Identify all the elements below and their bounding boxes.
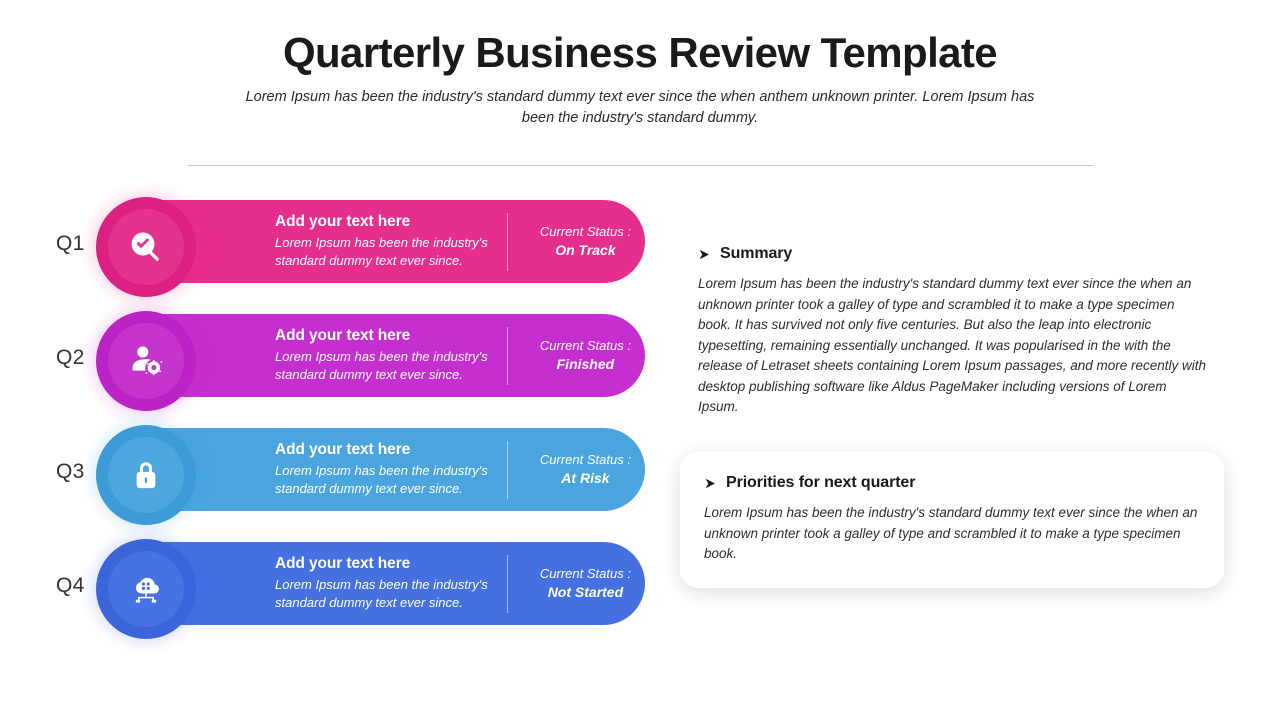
quarter-status-q4: Current Status : Not Started	[526, 565, 645, 601]
quarter-icon-circle-q1[interactable]	[96, 197, 196, 297]
quarter-status-q1: Current Status : On Track	[526, 223, 645, 259]
cloud-network-icon	[129, 572, 163, 606]
arrow-bullet-icon	[704, 477, 717, 490]
quarter-status-value-q4: Not Started	[526, 583, 645, 602]
search-check-icon	[129, 230, 163, 264]
quarter-divider-q1	[507, 213, 508, 271]
header-divider	[188, 165, 1093, 166]
quarter-status-label-q3: Current Status :	[526, 451, 645, 469]
quarter-description-q3: Lorem Ipsum has been the industry's stan…	[275, 462, 507, 499]
quarter-description-q1: Lorem Ipsum has been the industry's stan…	[275, 234, 507, 271]
quarter-text-block-q3: Add your text here Lorem Ipsum has been …	[275, 441, 507, 499]
quarter-status-label-q1: Current Status :	[526, 223, 645, 241]
quarter-divider-q2	[507, 327, 508, 385]
quarter-text-block-q4: Add your text here Lorem Ipsum has been …	[275, 555, 507, 613]
lock-icon	[129, 458, 163, 492]
quarter-status-q2: Current Status : Finished	[526, 337, 645, 373]
quarter-text-block-q2: Add your text here Lorem Ipsum has been …	[275, 327, 507, 385]
summary-heading: Summary	[698, 245, 1208, 263]
arrow-bullet-icon	[698, 248, 711, 261]
quarter-row-q3[interactable]: Q3 Add your text here Lorem Ipsum has be…	[48, 418, 648, 532]
priorities-card[interactable]: Priorities for next quarter Lorem Ipsum …	[680, 452, 1224, 588]
quarter-heading-q4: Add your text here	[275, 555, 507, 573]
quarter-text-block-q1: Add your text here Lorem Ipsum has been …	[275, 213, 507, 271]
quarter-icon-circle-q4[interactable]	[96, 539, 196, 639]
quarter-description-q2: Lorem Ipsum has been the industry's stan…	[275, 348, 507, 385]
priorities-heading: Priorities for next quarter	[704, 474, 1200, 492]
page-subtitle: Lorem Ipsum has been the industry's stan…	[240, 87, 1040, 128]
quarter-status-value-q1: On Track	[526, 241, 645, 260]
quarter-divider-q4	[507, 555, 508, 613]
quarter-icon-inner-q1	[108, 209, 184, 285]
quarter-row-q4[interactable]: Q4 Add your text here Lorem Ipsum has be…	[48, 532, 648, 646]
quarter-icon-inner-q3	[108, 437, 184, 513]
priorities-body: Lorem Ipsum has been the industry's stan…	[704, 503, 1204, 565]
quarter-status-value-q2: Finished	[526, 355, 645, 374]
quarter-icon-inner-q4	[108, 551, 184, 627]
main-content: Q1 Add your text here Lorem Ipsum has be…	[0, 190, 1280, 660]
quarter-row-q2[interactable]: Q2 Add your text here Lorem Ipsum has be…	[48, 304, 648, 418]
quarter-heading-q1: Add your text here	[275, 213, 507, 231]
quarter-heading-q2: Add your text here	[275, 327, 507, 345]
user-settings-icon	[129, 344, 163, 378]
summary-section: Summary Lorem Ipsum has been the industr…	[698, 245, 1208, 418]
quarter-list: Q1 Add your text here Lorem Ipsum has be…	[48, 190, 648, 646]
summary-body: Lorem Ipsum has been the industry's stan…	[698, 274, 1208, 418]
page-title: Quarterly Business Review Template	[0, 30, 1280, 75]
quarter-status-q3: Current Status : At Risk	[526, 451, 645, 487]
quarter-row-q1[interactable]: Q1 Add your text here Lorem Ipsum has be…	[48, 190, 648, 304]
priorities-heading-text: Priorities for next quarter	[726, 474, 915, 492]
quarter-divider-q3	[507, 441, 508, 499]
summary-heading-text: Summary	[720, 245, 792, 263]
quarter-icon-circle-q2[interactable]	[96, 311, 196, 411]
quarter-status-label-q4: Current Status :	[526, 565, 645, 583]
quarter-icon-inner-q2	[108, 323, 184, 399]
page-header: Quarterly Business Review Template Lorem…	[0, 0, 1280, 166]
quarter-status-value-q3: At Risk	[526, 469, 645, 488]
quarter-description-q4: Lorem Ipsum has been the industry's stan…	[275, 576, 507, 613]
quarter-icon-circle-q3[interactable]	[96, 425, 196, 525]
quarter-heading-q3: Add your text here	[275, 441, 507, 459]
quarter-status-label-q2: Current Status :	[526, 337, 645, 355]
